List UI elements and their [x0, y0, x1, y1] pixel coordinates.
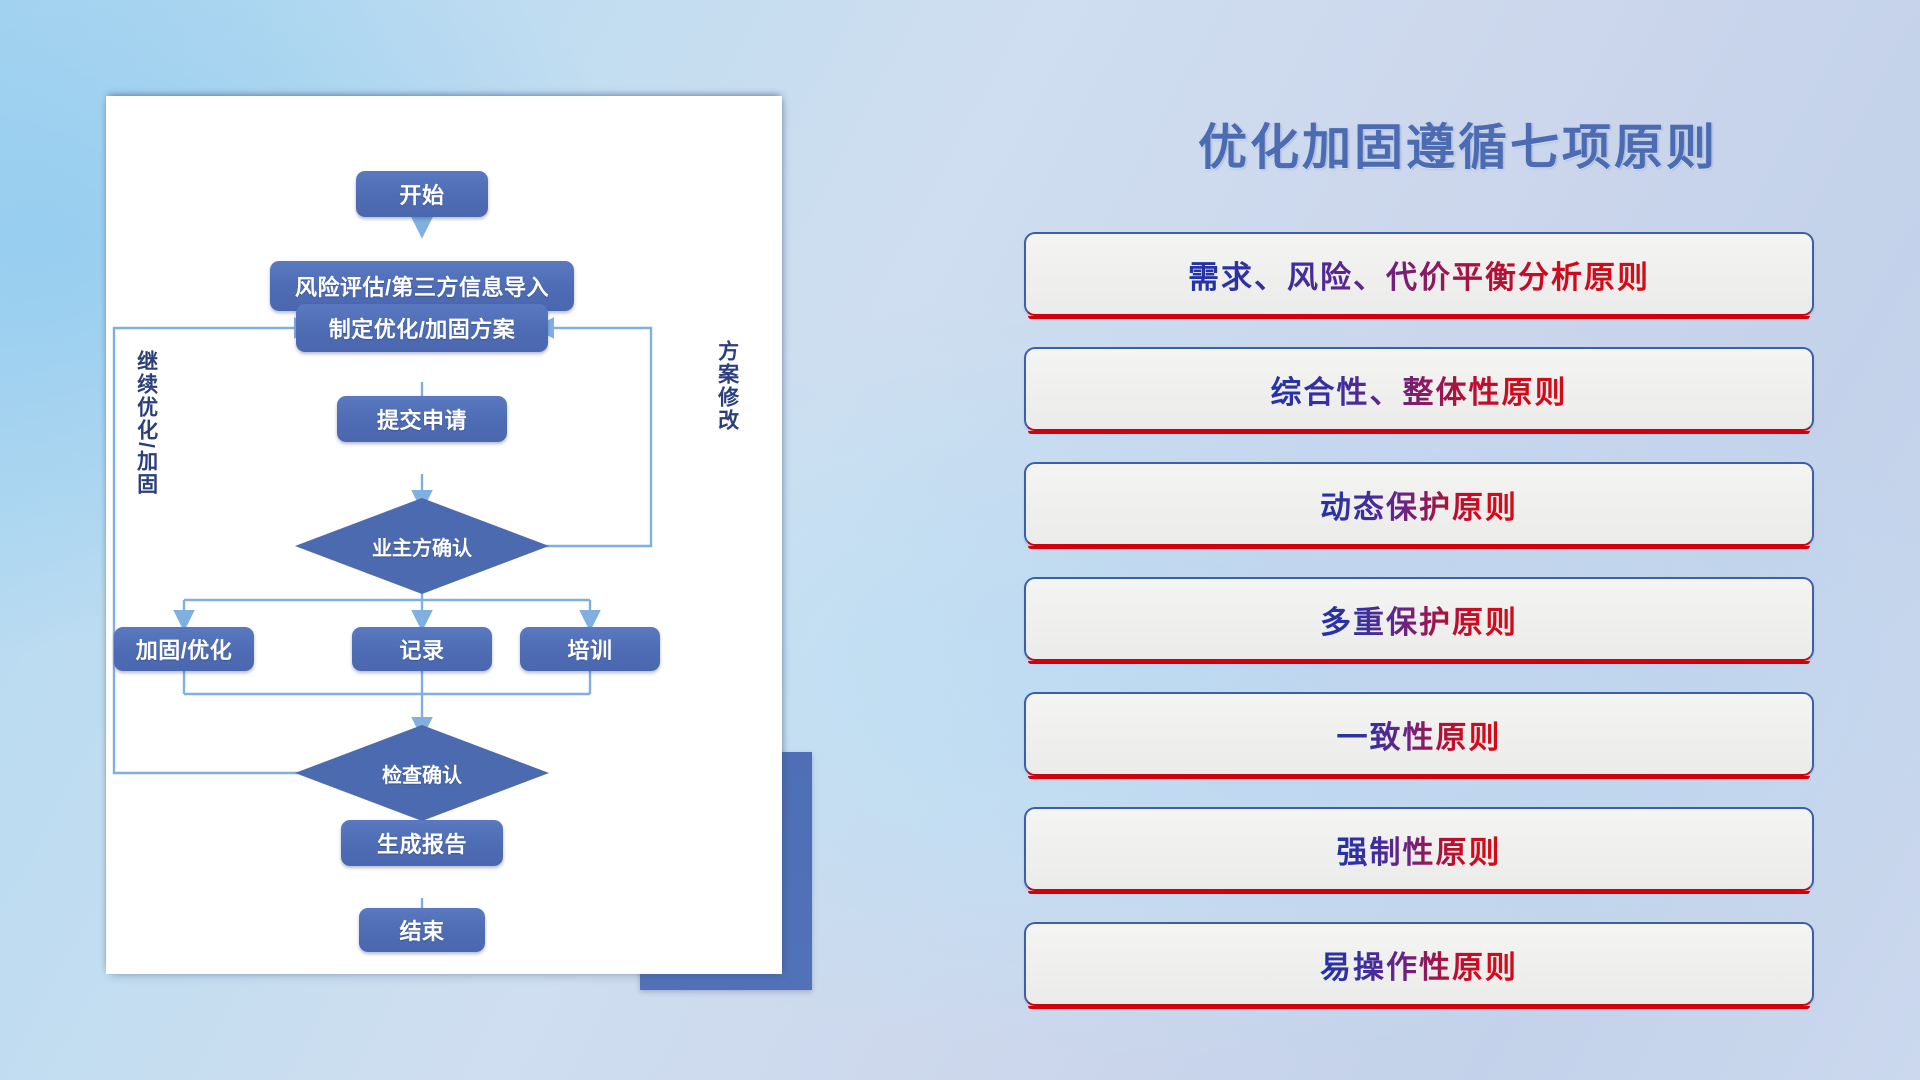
flow-node-label: 制定优化/加固方案	[329, 312, 516, 344]
flow-node-start[interactable]: 开始	[356, 171, 488, 217]
principle-label: 一致性原则	[1337, 712, 1502, 757]
flow-node-label: 培训	[567, 633, 612, 665]
principle-item[interactable]: 综合性、整体性原则	[1024, 347, 1814, 431]
edge-label-plan-revision: 方案修改	[715, 340, 738, 432]
principle-label: 多重保护原则	[1320, 597, 1518, 642]
flow-node-inspection-confirmation[interactable]: 检查确认	[295, 725, 549, 821]
flow-node-owner-confirmation[interactable]: 业主方确认	[295, 498, 549, 594]
principle-item[interactable]: 易操作性原则	[1024, 922, 1814, 1006]
principle-item[interactable]: 多重保护原则	[1024, 577, 1814, 661]
flow-node-label: 加固/优化	[136, 633, 233, 665]
flow-node-record[interactable]: 记录	[352, 627, 492, 671]
flow-node-label: 结束	[399, 914, 444, 946]
flow-node-training[interactable]: 培训	[520, 627, 660, 671]
principle-label: 动态保护原则	[1320, 482, 1518, 527]
principle-label: 强制性原则	[1337, 827, 1502, 872]
principle-item[interactable]: 需求、风险、代价平衡分析原则	[1024, 232, 1814, 316]
flow-node-reinforce[interactable]: 加固/优化	[114, 627, 254, 671]
principle-item[interactable]: 一致性原则	[1024, 692, 1814, 776]
principle-label: 需求、风险、代价平衡分析原则	[1188, 252, 1650, 297]
principles-list: 需求、风险、代价平衡分析原则 综合性、整体性原则 动态保护原则 多重保护原则 一…	[1024, 232, 1814, 1037]
principle-label: 综合性、整体性原则	[1271, 367, 1568, 412]
panel-title: 优化加固遵循七项原则	[1018, 108, 1898, 179]
flowchart-card: 开始 风险评估/第三方信息导入 制定优化/加固方案 提交申请 业主方确认 加固/…	[106, 96, 782, 974]
flow-node-submit-application[interactable]: 提交申请	[337, 396, 507, 442]
flow-node-label: 生成报告	[377, 827, 467, 859]
principle-item[interactable]: 动态保护原则	[1024, 462, 1814, 546]
flow-node-generate-report[interactable]: 生成报告	[341, 820, 503, 866]
flow-node-end[interactable]: 结束	[359, 908, 485, 952]
principle-item[interactable]: 强制性原则	[1024, 807, 1814, 891]
flow-node-label: 开始	[399, 178, 444, 210]
flowchart: 开始 风险评估/第三方信息导入 制定优化/加固方案 提交申请 业主方确认 加固/…	[106, 96, 782, 974]
flow-node-label: 提交申请	[377, 403, 467, 435]
flow-node-label: 业主方确认	[372, 532, 472, 561]
edge-label-continue-optimize: 继续优化/加固	[134, 350, 157, 496]
flow-node-label: 检查确认	[382, 759, 462, 788]
flow-node-label: 风险评估/第三方信息导入	[295, 270, 549, 302]
flow-node-plan[interactable]: 制定优化/加固方案	[296, 304, 548, 352]
principle-label: 易操作性原则	[1320, 942, 1518, 987]
flow-node-label: 记录	[399, 633, 444, 665]
